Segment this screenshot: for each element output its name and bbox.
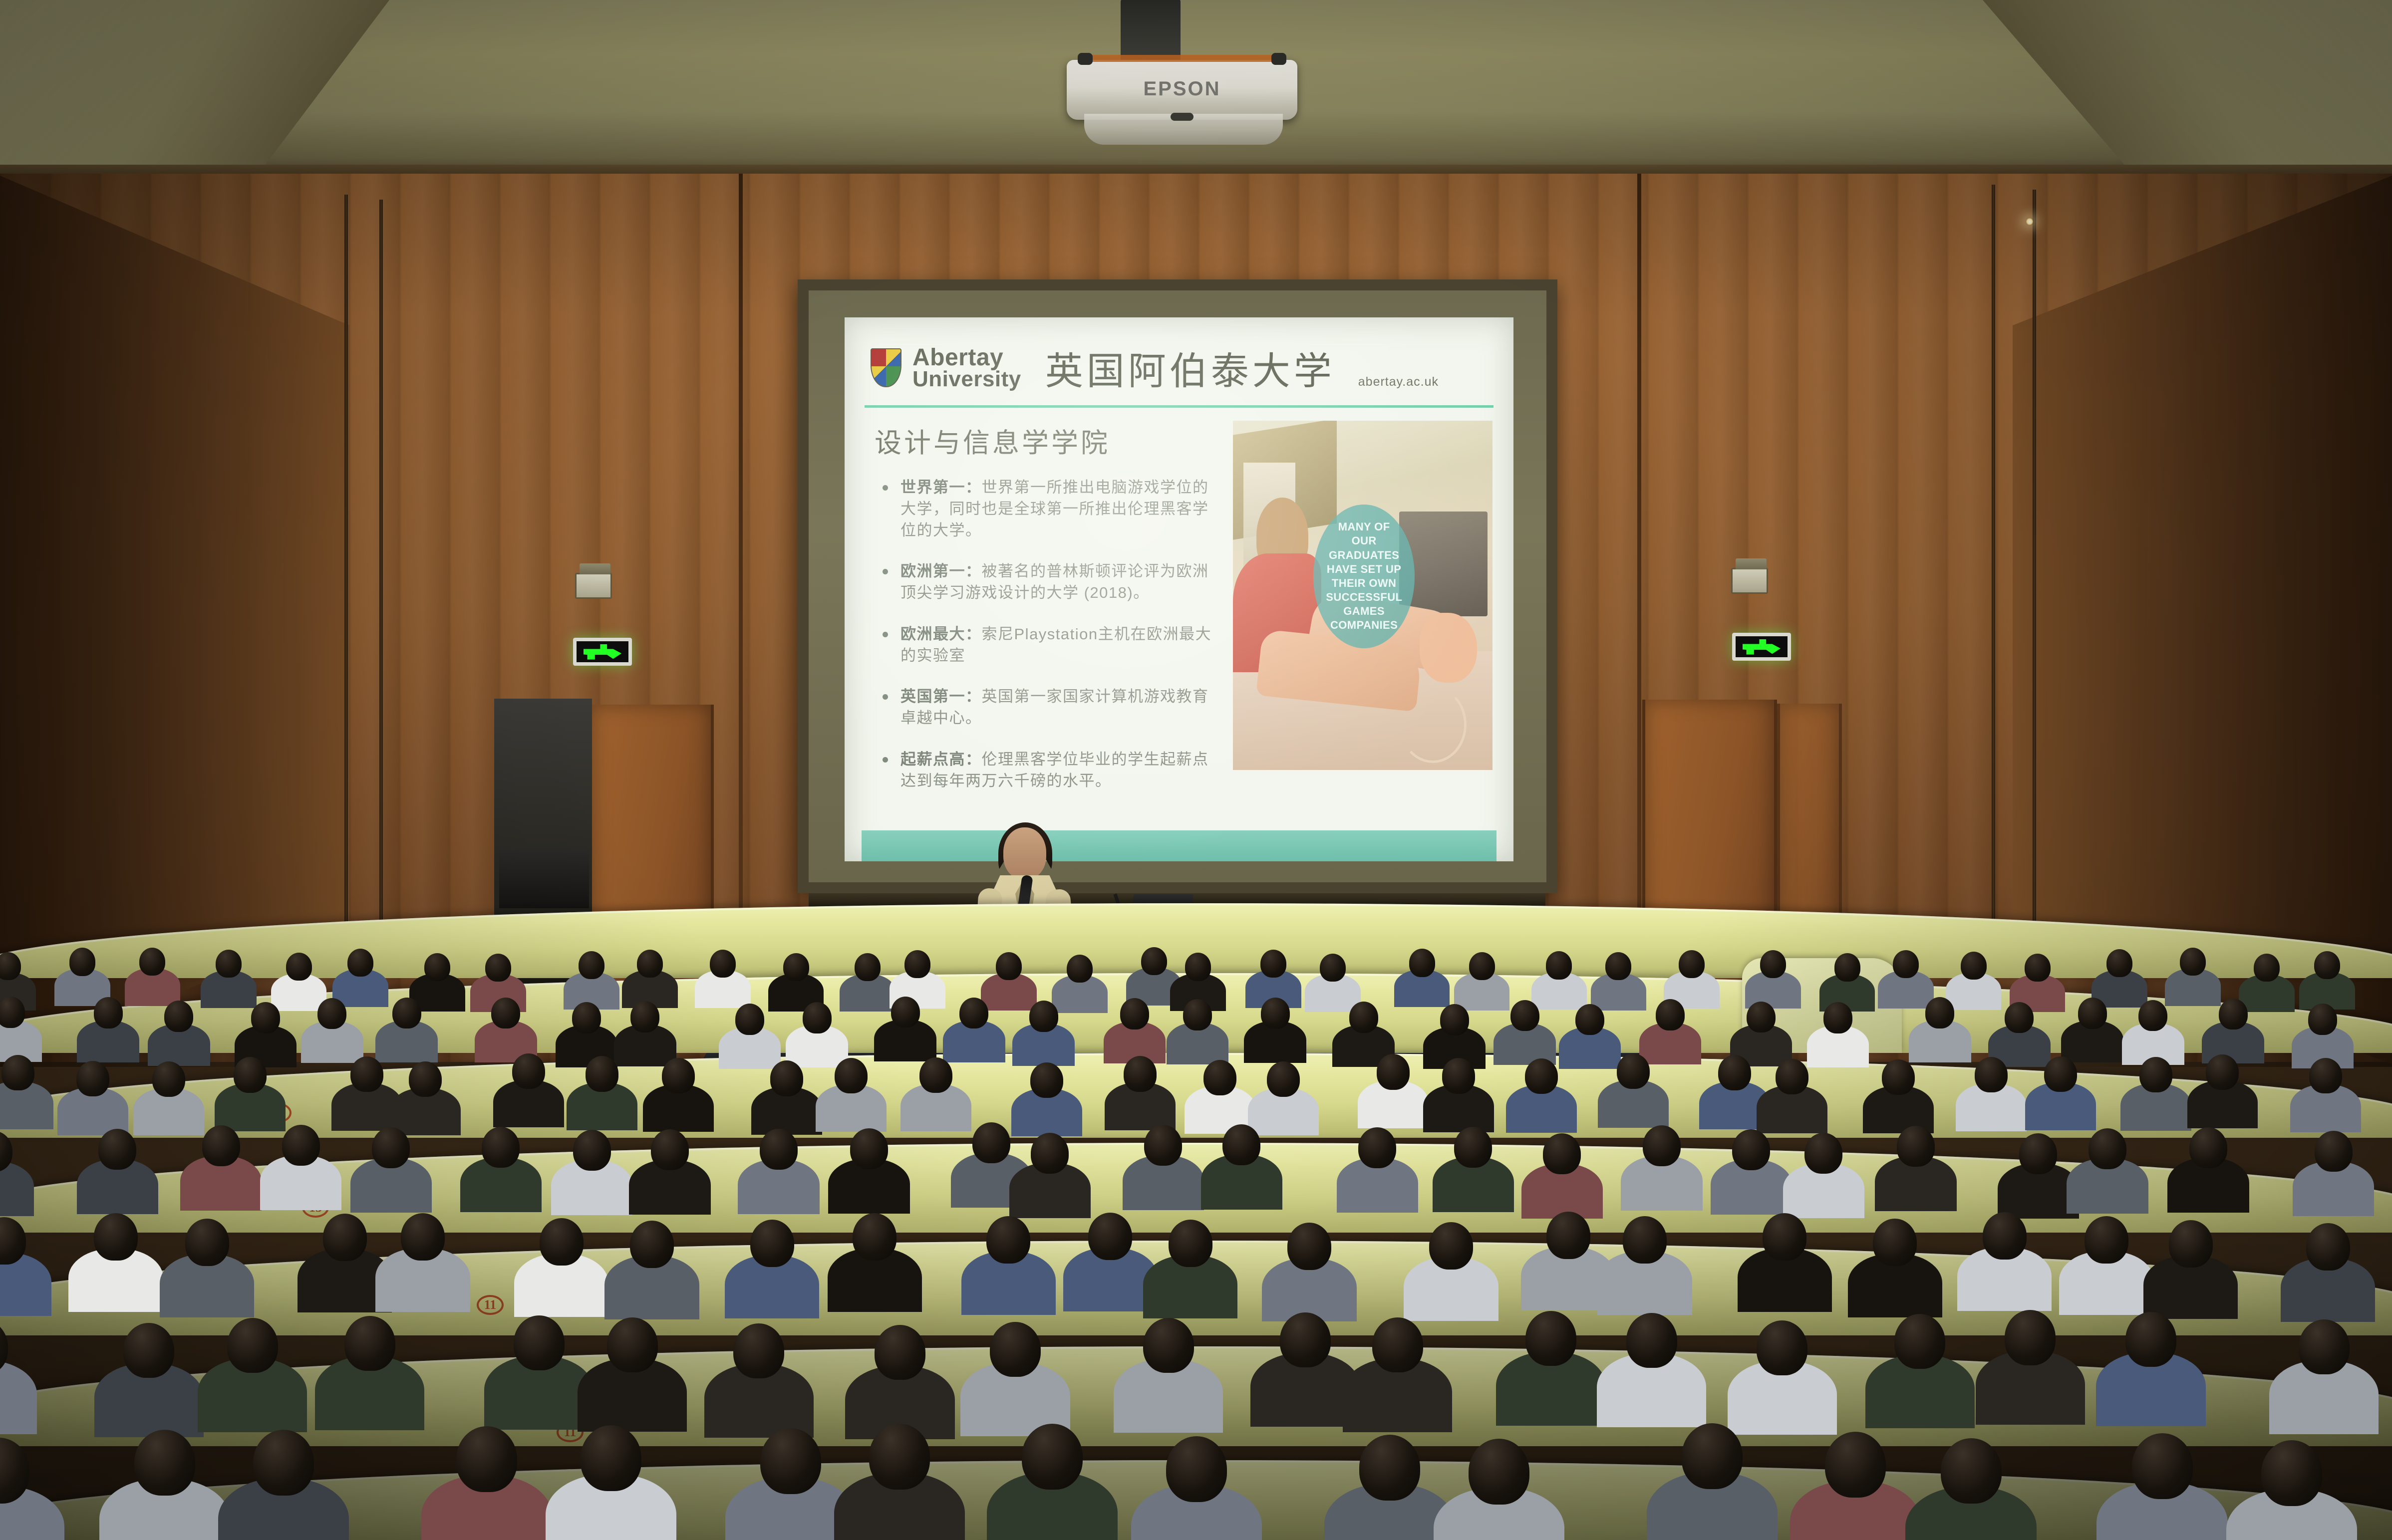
wall-cable-right	[1992, 185, 1995, 1003]
audience-person-head	[760, 1428, 821, 1494]
exit-sign-left	[573, 638, 632, 666]
projection-screen: Abertay University 英国阿伯泰大学 abertay.ac.uk…	[845, 317, 1513, 861]
slide-photo: MANY OF OUR GRADUATES HAVE SET UP THEIR …	[1233, 421, 1493, 770]
audience-person-head	[69, 948, 95, 976]
audience-person-head	[1682, 1423, 1743, 1489]
projector-foot-right	[1271, 53, 1286, 65]
audience-person-head	[1088, 1213, 1132, 1260]
audience-person-head	[514, 1315, 565, 1370]
audience-person-head	[1169, 1220, 1212, 1267]
audience-person-head	[770, 1060, 803, 1096]
audience-person-head	[2125, 1312, 2176, 1367]
audience-person-head	[286, 953, 312, 981]
audience-person-head	[2138, 1000, 2167, 1031]
audience-person-head	[710, 950, 736, 978]
audience-person-head	[1031, 1133, 1069, 1174]
doorway-left-interior	[499, 848, 589, 908]
audience-person-head	[1747, 1002, 1776, 1033]
slide-text-column: 设计与信息学学院 世界第一：世界第一所推出电脑游戏学位的大学，同时也是全球第一所…	[875, 421, 1220, 823]
audience-person-head	[1372, 1317, 1423, 1372]
audience-person-head	[1120, 998, 1149, 1029]
slide-url: abertay.ac.uk	[1358, 375, 1439, 395]
audience-person-head	[1260, 950, 1286, 978]
audience-person-head	[2206, 1054, 2239, 1090]
audience-person-head	[2078, 998, 2107, 1029]
exit-icon	[584, 643, 621, 660]
audience-person-head	[1185, 953, 1211, 981]
audience-person-head	[2314, 951, 2340, 979]
audience-person-head	[855, 953, 881, 981]
audience-person-head	[835, 1058, 868, 1093]
audience-person-head	[456, 1426, 517, 1492]
exit-icon	[1743, 638, 1781, 655]
audience-person-head	[1440, 1004, 1469, 1035]
list-item: 英国第一：英国第一家国家计算机游戏教育卓越中心。	[875, 686, 1220, 729]
audience-person-head	[2315, 1131, 2353, 1172]
audience-person-head	[424, 953, 450, 981]
audience-person-head	[1141, 947, 1167, 975]
exit-sign-right	[1732, 633, 1791, 661]
audience-person-head	[1143, 1318, 1194, 1373]
audience-person-head	[630, 1221, 674, 1268]
slide-accent-rule	[865, 405, 1494, 408]
audience-person-head	[2189, 1127, 2227, 1168]
list-item: 起薪点高：伦理黑客学位毕业的学生起薪点达到每年两万六千磅的水平。	[875, 749, 1220, 792]
audience-person-head	[733, 1323, 784, 1378]
audience-person-head	[2254, 954, 2280, 982]
audience-person-head	[1776, 1059, 1808, 1094]
wall-speaker-right	[1731, 568, 1768, 594]
bullet-label: 欧洲第一：	[900, 562, 982, 580]
audience-person-head	[996, 952, 1022, 980]
audience-person-head	[1546, 1212, 1590, 1259]
audience-person-head	[586, 1056, 618, 1091]
indicator-led	[2026, 218, 2034, 226]
audience-person-head	[98, 1129, 136, 1170]
photo-badge-text: MANY OF OUR GRADUATES HAVE SET UP THEIR …	[1326, 520, 1402, 632]
slide-section-title: 设计与信息学学院	[875, 421, 1220, 460]
list-item: 欧洲第一：被著名的普林斯顿评论评为欧洲顶尖学习游戏设计的大学 (2018)。	[875, 561, 1220, 604]
photo-circle-badge: MANY OF OUR GRADUATES HAVE SET UP THEIR …	[1313, 505, 1415, 648]
audience-person-head	[202, 1125, 240, 1166]
audience-person-head	[2219, 999, 2248, 1030]
audience-person-head	[1763, 1213, 1806, 1261]
audience-person-head	[637, 950, 663, 978]
logo-line-1: Abertay	[912, 346, 1021, 369]
audience-person-head	[651, 1129, 689, 1170]
audience-person-head	[540, 1218, 584, 1266]
audience-person-head	[251, 1002, 280, 1033]
audience-person-head	[1834, 953, 1860, 981]
projector-lens	[1171, 113, 1194, 121]
audience-person-head	[2106, 949, 2132, 977]
presenter-head	[1003, 827, 1046, 879]
audience-person-head	[1525, 1311, 1576, 1366]
projector: EPSON	[1067, 60, 1297, 120]
audience-person-head	[1894, 1314, 1945, 1369]
audience-person-head	[1510, 1000, 1539, 1031]
slide-footer-band	[862, 830, 1496, 861]
audience-person-head	[372, 1127, 410, 1168]
audience-person-head	[2180, 948, 2206, 976]
audience-person-head	[344, 1316, 395, 1371]
audience-person-head	[2132, 1433, 2193, 1499]
audience-person-head	[401, 1213, 445, 1261]
audience-person-head	[347, 949, 373, 977]
audience-person-head	[1203, 1060, 1236, 1095]
audience-person-head	[1267, 1061, 1300, 1097]
abertay-logo-wordmark: Abertay University	[912, 346, 1021, 389]
audience-person-head	[1183, 999, 1212, 1030]
audience-person-head	[123, 1323, 174, 1378]
audience-person-head	[512, 1053, 545, 1089]
audience-person-head	[959, 998, 988, 1029]
audience-person-head	[1029, 1001, 1058, 1032]
slide-bullet-list: 世界第一：世界第一所推出电脑游戏学位的大学，同时也是全球第一所推出伦理黑客学位的…	[875, 477, 1220, 791]
audience-person-head	[1732, 1129, 1770, 1170]
audience-person-head	[1469, 952, 1495, 980]
bullet-label: 欧洲最大：	[900, 625, 982, 643]
audience-person-head	[1961, 952, 1987, 980]
audience-person-head	[1656, 999, 1685, 1030]
bullet-label: 英国第一：	[900, 688, 982, 705]
audience-person-head	[1377, 1054, 1410, 1089]
audience-person-head	[1983, 1212, 2027, 1260]
audience-person-head	[662, 1058, 695, 1093]
audience-person-head	[2309, 1058, 2342, 1093]
seat-number-marker: 11	[477, 1295, 504, 1315]
audience-person-head	[1825, 1432, 1886, 1498]
audience-person-head	[850, 1128, 888, 1169]
audience-person-head	[735, 1004, 764, 1035]
audience-person-head	[803, 1002, 832, 1033]
audience-person-head	[1525, 1058, 1558, 1094]
audience-person-head	[134, 1430, 195, 1496]
audience-person-head	[76, 1061, 109, 1096]
audience-person-head	[1893, 950, 1919, 978]
audience-person-head	[630, 1001, 659, 1032]
wall-cable-left	[344, 195, 348, 1013]
audience-person-head	[1823, 1002, 1852, 1033]
audience-person-head	[94, 997, 123, 1028]
audience-person-head	[409, 1061, 442, 1097]
audience-person-head	[1287, 1223, 1331, 1270]
audience-person-head	[1469, 1439, 1529, 1505]
audience-person-head	[1925, 997, 1954, 1028]
audience-person-head	[891, 997, 920, 1028]
audience-person-head	[581, 1425, 641, 1491]
audience-person-head	[919, 1057, 952, 1093]
audience-person-head	[1359, 1435, 1420, 1501]
audience-person-head	[2169, 1220, 2213, 1268]
slide-chinese-title: 英国阿伯泰大学	[1045, 340, 1335, 395]
audience-person-head	[1897, 1126, 1935, 1167]
audience-person-head	[1643, 1125, 1681, 1166]
audience-person-head	[869, 1424, 930, 1490]
audience-person-head	[1166, 1436, 1227, 1502]
audience-person-head	[282, 1125, 320, 1166]
lecture-hall-scene: EPSON Abertay University 英国阿伯泰大学 abertay…	[0, 0, 2392, 1540]
audience-person-head	[1358, 1127, 1396, 1168]
audience-person-head	[2005, 1310, 2056, 1365]
audience-person-head	[1222, 1124, 1260, 1165]
audience-person-head	[1, 1055, 34, 1090]
audience-person-head	[323, 1214, 367, 1261]
photo-person-hand	[1420, 613, 1477, 683]
audience-person-head	[491, 998, 520, 1029]
audience-person-head	[1409, 949, 1435, 977]
audience-person-head	[392, 998, 421, 1029]
slide-body: 设计与信息学学院 世界第一：世界第一所推出电脑游戏学位的大学，同时也是全球第一所…	[862, 408, 1496, 823]
slide-header: Abertay University 英国阿伯泰大学 abertay.ac.uk	[862, 332, 1496, 402]
audience-person-head	[2085, 1216, 2128, 1264]
audience-person-head	[1941, 1438, 2002, 1504]
audience-person-head	[1617, 1053, 1650, 1089]
audience-person-head	[1030, 1062, 1063, 1098]
bullet-label: 世界第一：	[900, 479, 982, 496]
presentation-slide: Abertay University 英国阿伯泰大学 abertay.ac.uk…	[845, 317, 1513, 861]
audience-person-head	[760, 1129, 798, 1170]
audience-person-head	[317, 998, 346, 1029]
audience-person-head	[485, 954, 511, 982]
audience-person-head	[1626, 1313, 1677, 1368]
projector-foot-left	[1078, 53, 1093, 65]
wall-cable-left-2	[379, 200, 383, 978]
audience-person-head	[1280, 1312, 1331, 1367]
projector-brand-label: EPSON	[1067, 78, 1297, 100]
audience-person-head	[2308, 1004, 2337, 1035]
audience-person-head	[1718, 1055, 1751, 1090]
wall-cable-right-2	[2033, 190, 2036, 968]
bullet-label: 起薪点高：	[900, 751, 982, 768]
audience-person-head	[1882, 1059, 1915, 1095]
audience-person-head	[2306, 1223, 2350, 1271]
audience-person-head	[986, 1216, 1030, 1264]
audience-person-head	[573, 1130, 611, 1171]
slide-image-column: MANY OF OUR GRADUATES HAVE SET UP THEIR …	[1233, 421, 1493, 823]
audience-person-head	[1760, 950, 1786, 978]
abertay-crest-icon	[871, 348, 901, 387]
audience-person-head	[579, 951, 604, 979]
audience-person-head	[2089, 1128, 2126, 1169]
audience-person-head	[1543, 1133, 1581, 1174]
audience-person-head	[572, 1002, 601, 1033]
audience-person-head	[2139, 1057, 2172, 1092]
audience-person-head	[216, 950, 242, 978]
photo-cable	[1399, 686, 1467, 763]
wall-speaker-left	[575, 573, 612, 599]
audience-person-head	[1804, 1133, 1842, 1174]
audience-person-head	[1873, 1219, 1917, 1266]
audience-person-head	[234, 1057, 267, 1092]
audience-person-head	[1442, 1058, 1475, 1093]
audience-person-head	[1679, 950, 1705, 978]
audience-person-head	[1975, 1057, 2008, 1092]
audience-person-head	[1124, 1056, 1157, 1091]
logo-line-2: University	[912, 369, 1021, 389]
audience-person-head	[1429, 1222, 1473, 1270]
audience-person-head	[1261, 998, 1290, 1029]
audience-person-head	[1454, 1127, 1492, 1168]
audience-person-head	[152, 1061, 185, 1097]
audience-person-head	[1022, 1424, 1083, 1490]
audience-person-head	[972, 1122, 1010, 1163]
audience-person-head	[1067, 955, 1093, 983]
audience-person-head	[227, 1318, 278, 1373]
audience-person-head	[2025, 954, 2051, 982]
audience-person-head	[875, 1325, 925, 1380]
audience-person-head	[853, 1213, 897, 1261]
audience-person-head	[1605, 952, 1631, 980]
audience-person-head	[1349, 1002, 1378, 1033]
list-item: 世界第一：世界第一所推出电脑游戏学位的大学，同时也是全球第一所推出伦理黑客学位的…	[875, 477, 1220, 541]
audience-person-head	[185, 1219, 229, 1266]
audience-person-head	[94, 1213, 138, 1261]
audience-person-head	[1144, 1125, 1182, 1166]
audience-person-head	[1623, 1216, 1667, 1264]
audience-person-head	[139, 948, 165, 976]
audience-person-head	[2005, 1002, 2034, 1033]
audience-person-head	[482, 1127, 520, 1168]
audience-person-head	[253, 1430, 314, 1496]
audience-person-head	[350, 1056, 383, 1092]
audience-person-head	[1757, 1320, 1807, 1375]
audience-person-head	[1320, 954, 1346, 982]
audience-person-head	[2019, 1133, 2057, 1174]
audience-person-head	[1546, 951, 1572, 979]
audience-person-head	[164, 1001, 193, 1032]
audience-person-head	[750, 1220, 794, 1267]
audience-person-head	[783, 953, 809, 981]
audience-person-head	[1575, 1004, 1604, 1035]
audience-person-head	[904, 950, 930, 978]
audience-person-head	[990, 1322, 1041, 1377]
audience-person-head	[2261, 1440, 2322, 1506]
list-item: 欧洲最大：索尼Playstation主机在欧洲最大的实验室	[875, 624, 1220, 667]
audience-person-head	[607, 1317, 658, 1372]
audience-person-head	[2299, 1319, 2350, 1374]
audience-person-head	[2044, 1056, 2077, 1092]
